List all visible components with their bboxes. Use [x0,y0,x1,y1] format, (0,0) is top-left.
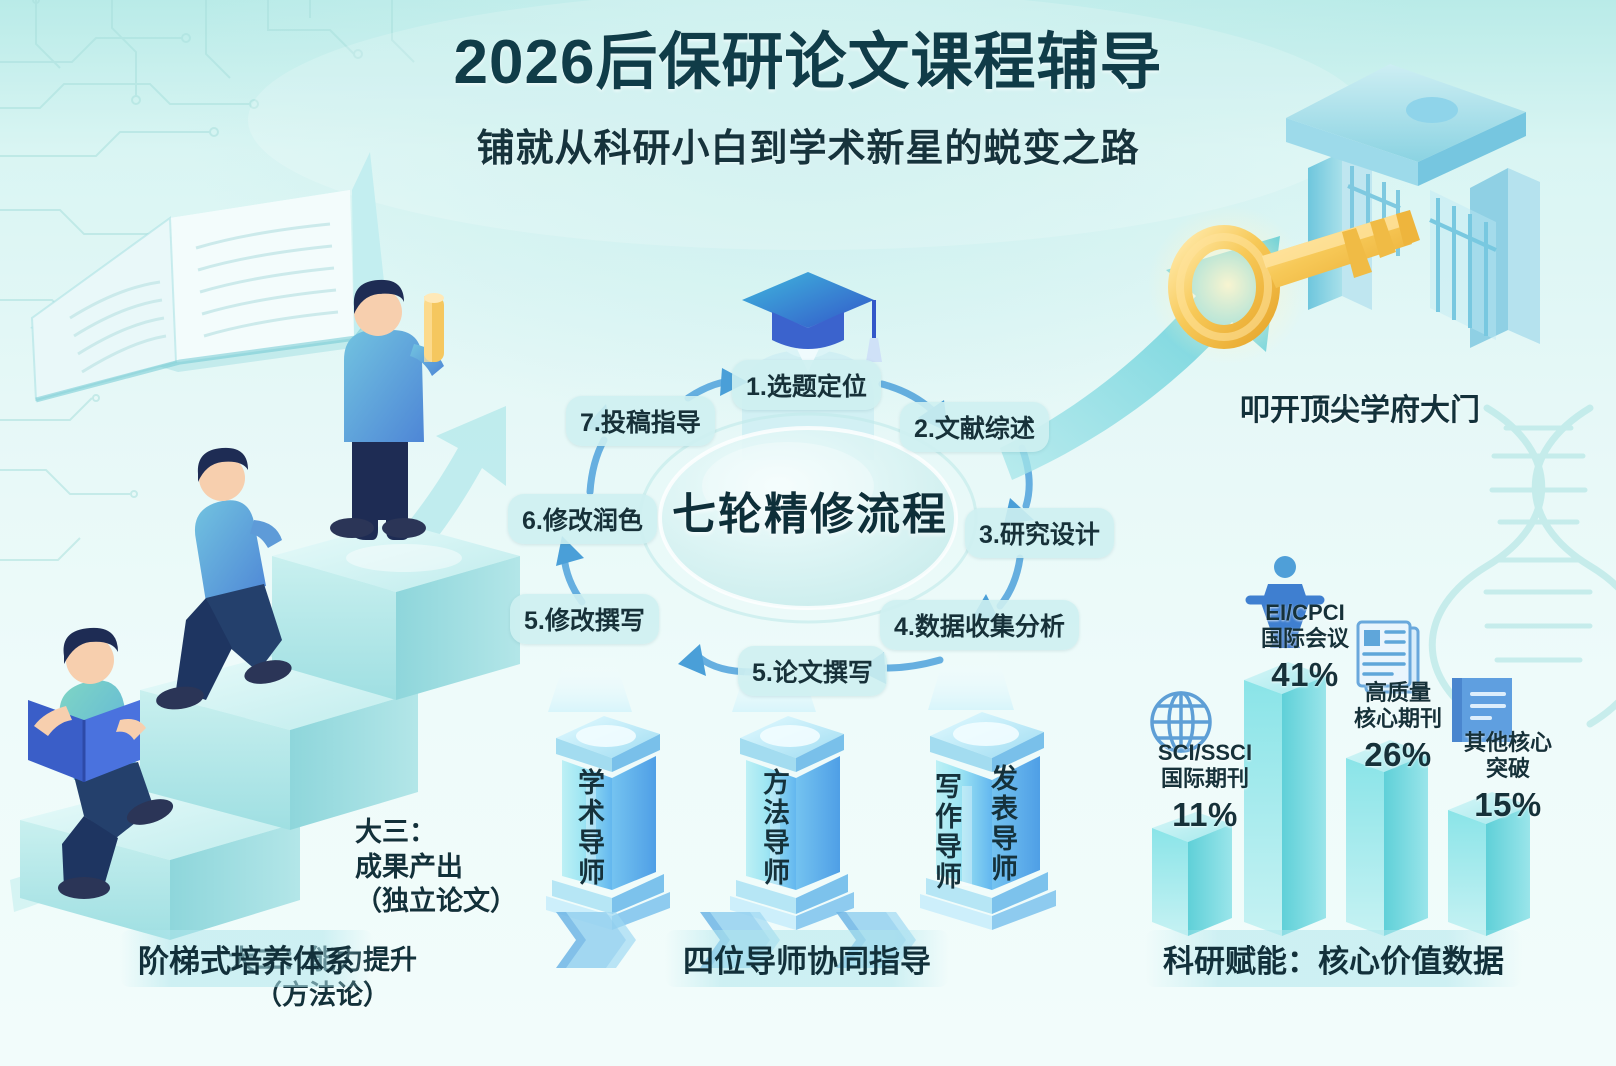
bar-name-other-line2: 突破 [1433,756,1583,782]
bar-name-ei-line2: 国际会议 [1225,626,1385,652]
bar-name-core-line2: 核心期刊 [1323,706,1473,732]
footer-caption-mentors: 四位导师协同指导 [665,930,949,987]
footer-caption-stairs: 阶梯式培养体系 [120,930,373,987]
infographic-canvas: 2026后保研论文课程辅导 铺就从科研小白到学术新星的蜕变之路 大三： 成果产出… [0,0,1616,1066]
staircase-section: 大三： 成果产出 （独立论文） 大二：能力提升 （方法论） 大一：科研启蒙 （基… [0,255,530,955]
title-block: 2026后保研论文课程辅导 铺就从科研小白到学术新星的蜕变之路 [0,30,1616,172]
page-subtitle: 铺就从科研小白到学术新星的蜕变之路 [0,117,1616,172]
bar-label-other: 其他核心 突破 15% [1433,730,1583,824]
flow-step-7[interactable]: 7.投稿指导 [566,396,715,446]
stats-chart-section: SCI/SSCI 国际期刊 11% EI/CPCI 国际会议 41% 高质量 核… [1115,540,1585,940]
page-title: 2026后保研论文课程辅导 [0,30,1616,95]
golden-key-icon [1148,205,1420,365]
bar-value-other: 15% [1433,785,1583,825]
bar-name-ei-line1: EI/CPCI [1225,600,1385,626]
flow-step-2[interactable]: 2.文献综述 [900,402,1049,452]
footer-caption-stats: 科研赋能：核心价值数据 [1145,930,1522,987]
bar-name-other-line1: 其他核心 [1433,730,1583,756]
flow-step-4[interactable]: 4.数据收集分析 [880,600,1079,650]
flow-center-label: 七轮精修流程 [470,478,1150,542]
gate-caption: 叩开顶尖学府大门 [1240,385,1480,429]
flow-step-1[interactable]: 1.选题定位 [732,360,881,410]
flow-wheel-section: 七轮精修流程 1.选题定位 2.文献综述 3.研究设计 4.数据收集分析 5.论… [470,250,1150,950]
flow-step-5b[interactable]: 5.修改撰写 [510,594,659,644]
bar-name-core-line1: 高质量 [1323,680,1473,706]
flow-step-5[interactable]: 5.论文撰写 [738,646,887,696]
